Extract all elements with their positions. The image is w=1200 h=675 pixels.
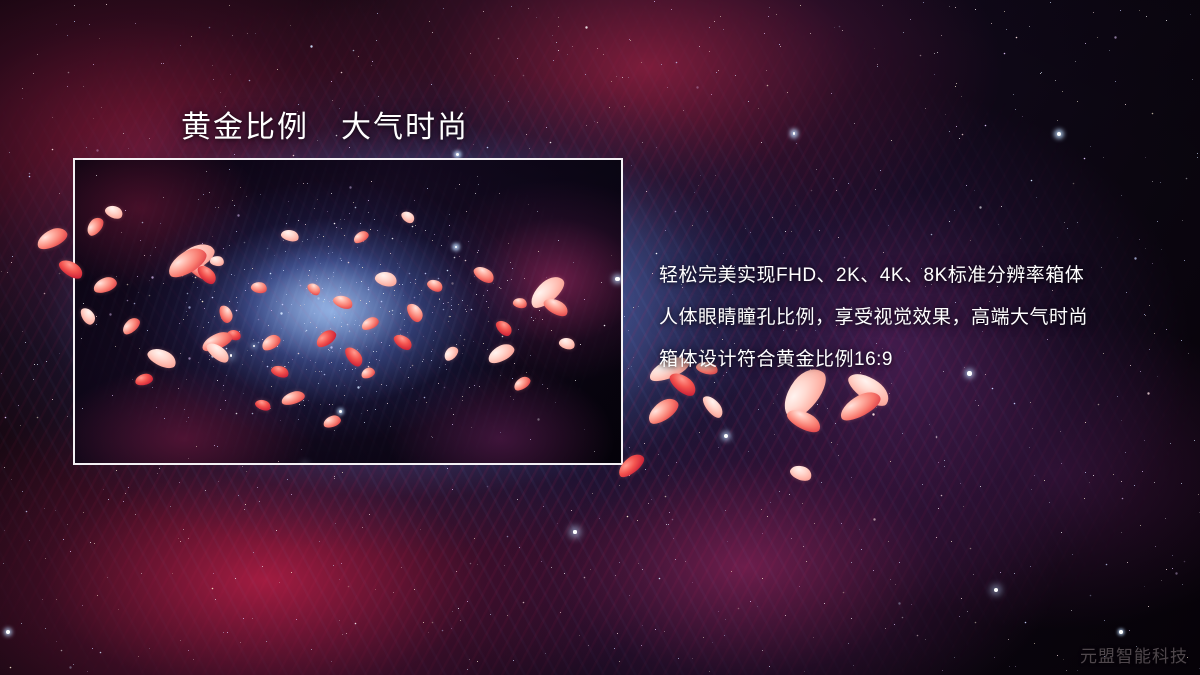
photo-frame <box>73 158 623 465</box>
presentation-slide: 黄金比例 大气时尚 轻松完美实现FHD、2K、4K、8K标准分辨率箱体 人体眼睛… <box>0 0 1200 675</box>
page-title: 黄金比例 大气时尚 <box>181 102 469 146</box>
body-text-block: 轻松完美实现FHD、2K、4K、8K标准分辨率箱体 人体眼睛瞳孔比例，享受视觉效… <box>659 255 1179 381</box>
watermark-label: 元盟智能科技 <box>1080 642 1188 667</box>
body-line-2: 人体眼睛瞳孔比例，享受视觉效果，高端大气时尚 <box>659 297 1179 339</box>
starfield-photo <box>75 160 621 463</box>
body-line-1: 轻松完美实现FHD、2K、4K、8K标准分辨率箱体 <box>659 255 1179 297</box>
body-line-3: 箱体设计符合黄金比例16:9 <box>659 339 1179 381</box>
